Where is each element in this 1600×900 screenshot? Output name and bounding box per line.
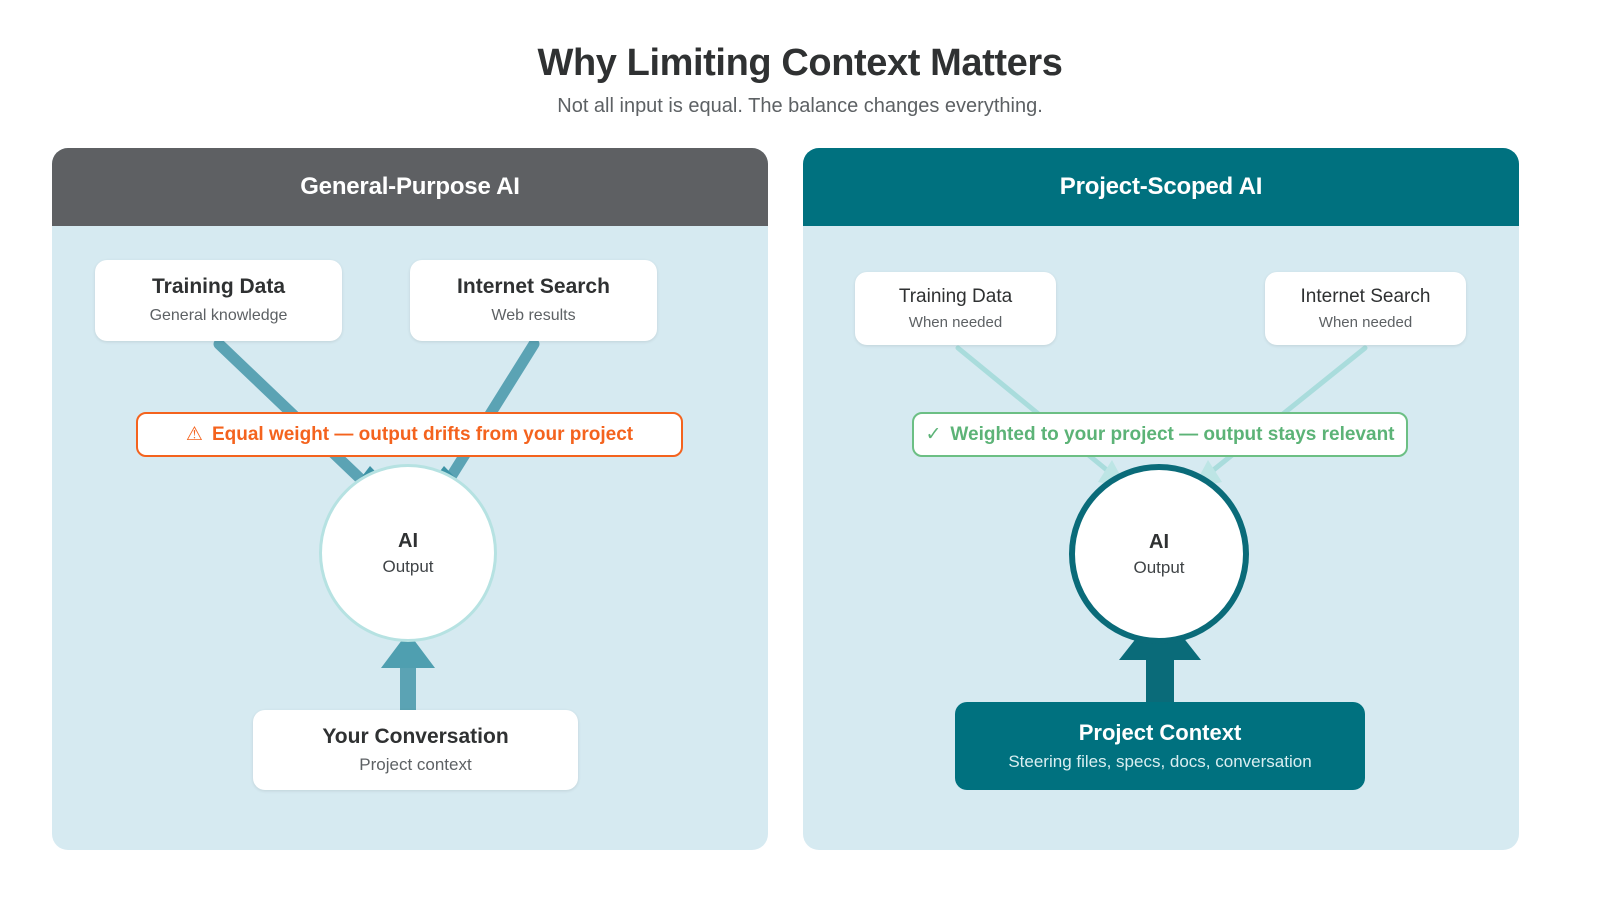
panel-general-purpose-ai: General-Purpose AI Training Data General… (52, 148, 768, 850)
ai-node-subtitle: Output (382, 557, 433, 577)
panel-body-general-purpose: Training Data General knowledge Internet… (52, 226, 768, 850)
box-subtitle: Project context (359, 755, 471, 775)
card-subtitle: When needed (909, 313, 1002, 333)
ai-node-general-purpose: AI Output (319, 464, 497, 642)
warning-triangle-icon: ⚠ (186, 423, 203, 446)
callout-text: Weighted to your project — output stays … (950, 424, 1394, 446)
check-icon: ✓ (925, 423, 941, 446)
card-internet-search-general[interactable]: Internet Search Web results (410, 260, 657, 341)
card-subtitle: General knowledge (150, 306, 288, 327)
panel-header-general-purpose: General-Purpose AI (52, 148, 768, 226)
card-internet-search-scoped[interactable]: Internet Search When needed (1265, 272, 1466, 345)
card-subtitle: Web results (491, 306, 575, 327)
ai-node-title: AI (398, 530, 418, 553)
box-project-context[interactable]: Project Context Steering files, specs, d… (955, 702, 1365, 790)
ai-node-title: AI (1149, 531, 1169, 554)
panel-project-scoped-ai: Project-Scoped AI Training Data When nee… (803, 148, 1519, 850)
box-title: Project Context (1079, 720, 1242, 746)
callout-equal-weight: ⚠ Equal weight — output drifts from your… (136, 412, 683, 457)
callout-weighted-to-project: ✓ Weighted to your project — output stay… (912, 412, 1408, 457)
card-training-data-general[interactable]: Training Data General knowledge (95, 260, 342, 341)
card-training-data-scoped[interactable]: Training Data When needed (855, 272, 1056, 345)
panel-body-project-scoped: Training Data When needed Internet Searc… (803, 226, 1519, 850)
card-title: Training Data (152, 274, 285, 300)
card-title: Training Data (899, 285, 1012, 309)
ai-node-subtitle: Output (1133, 558, 1184, 578)
box-title: Your Conversation (322, 725, 508, 749)
card-title: Internet Search (1301, 285, 1431, 309)
ai-node-project-scoped: AI Output (1069, 464, 1249, 644)
page-title: Why Limiting Context Matters (0, 42, 1600, 85)
card-subtitle: When needed (1319, 313, 1412, 333)
box-subtitle: Steering files, specs, docs, conversatio… (1008, 752, 1311, 772)
panel-header-project-scoped: Project-Scoped AI (803, 148, 1519, 226)
card-title: Internet Search (457, 274, 610, 300)
page-subtitle: Not all input is equal. The balance chan… (0, 95, 1600, 118)
box-your-conversation[interactable]: Your Conversation Project context (253, 710, 578, 790)
diagram-canvas: Why Limiting Context Matters Not all inp… (0, 0, 1600, 900)
callout-text: Equal weight — output drifts from your p… (212, 424, 633, 446)
